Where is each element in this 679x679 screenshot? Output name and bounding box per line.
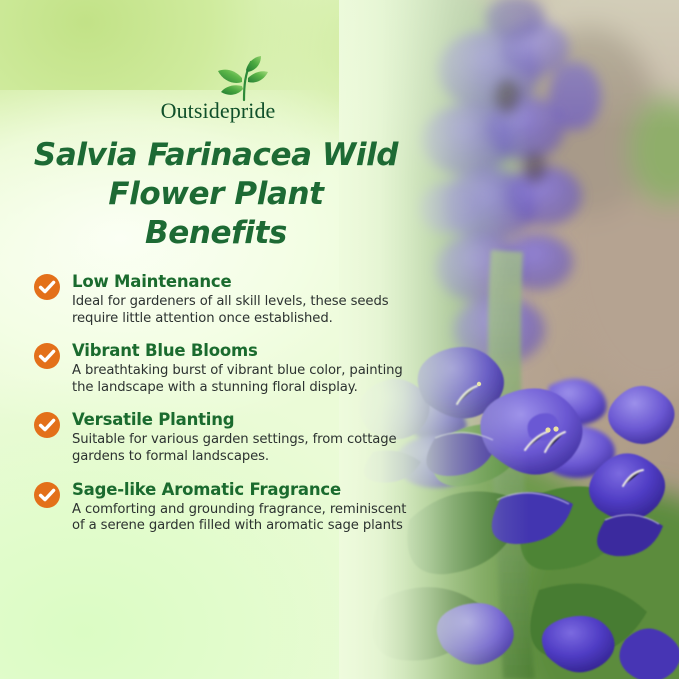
benefit-title: Versatile Planting [72,410,408,430]
page-title: Salvia Farinacea Wild Flower Plant Benef… [18,136,414,253]
benefit-title: Low Maintenance [72,272,408,292]
check-circle-icon [33,273,61,301]
brand-wordmark: Outsidepride [148,98,288,124]
benefit-description: Suitable for various garden settings, fr… [72,432,408,465]
list-item: Versatile Planting Suitable for various … [33,410,423,465]
infographic-canvas: Outsidepride Salvia Farinacea Wild Flowe… [0,0,679,679]
list-item: Low Maintenance Ideal for gardeners of a… [33,272,423,327]
benefit-description: Ideal for gardeners of all skill levels,… [72,294,408,327]
benefit-title: Vibrant Blue Blooms [72,341,408,361]
list-item: Vibrant Blue Blooms A breathtaking burst… [33,341,423,396]
benefit-description: A comforting and grounding fragrance, re… [72,502,408,535]
plant-sprout-leaves-icon [204,56,278,102]
brand-logo: Outsidepride [148,58,288,120]
page-title-line-3: Benefits [18,214,414,253]
check-circle-icon [33,342,61,370]
photo-top-fade [339,0,679,130]
page-title-line-1: Salvia Farinacea Wild [18,136,414,175]
benefits-list: Low Maintenance Ideal for gardeners of a… [33,272,423,549]
benefit-description: A breathtaking burst of vibrant blue col… [72,363,408,396]
list-item: Sage-like Aromatic Fragrance A comfortin… [33,480,423,535]
benefit-title: Sage-like Aromatic Fragrance [72,480,408,500]
check-circle-icon [33,411,61,439]
page-title-line-2: Flower Plant [18,175,414,214]
check-circle-icon [33,481,61,509]
